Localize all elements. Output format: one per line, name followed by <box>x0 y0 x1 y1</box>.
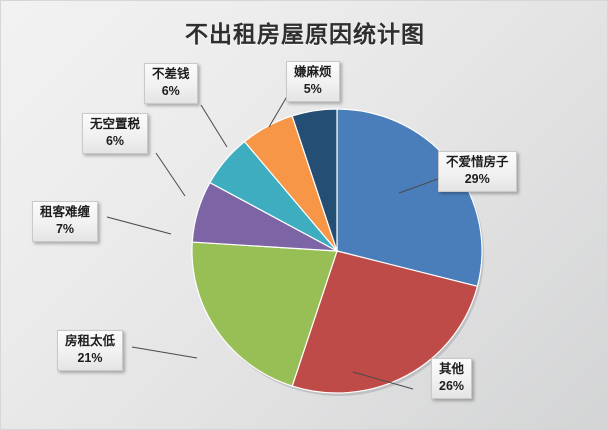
callout-category-label: 不爱惜房子 <box>446 155 509 170</box>
callout-percent-label: 6% <box>90 134 140 149</box>
callout-category-label: 无空置税 <box>90 117 140 132</box>
callout-category-label: 租客难缠 <box>40 205 90 220</box>
callout-zukenanchan[interactable]: 租客难缠 7% <box>32 201 98 242</box>
callout-buchaqian[interactable]: 不差钱 6% <box>144 63 198 104</box>
callout-buaixifangzi[interactable]: 不爱惜房子 29% <box>438 151 517 192</box>
callout-category-label: 嫌麻烦 <box>294 65 332 80</box>
callout-qita[interactable]: 其他 26% <box>431 358 472 399</box>
callout-percent-label: 7% <box>40 222 90 237</box>
callout-percent-label: 5% <box>294 82 332 97</box>
callout-category-label: 不差钱 <box>152 67 190 82</box>
callout-xianmafan[interactable]: 嫌麻烦 5% <box>286 61 340 102</box>
callout-percent-label: 26% <box>439 379 464 394</box>
callout-percent-label: 21% <box>65 351 115 366</box>
pie-chart-canvas: 不出租房屋原因统计图 嫌麻烦 5% 不爱惜房子 29% 其他 26% 房租太低 … <box>0 0 608 430</box>
callout-fangzutaidi[interactable]: 房租太低 21% <box>57 330 123 371</box>
callout-wukongzhishui[interactable]: 无空置税 6% <box>82 113 148 154</box>
callout-category-label: 房租太低 <box>65 334 115 349</box>
callout-percent-label: 29% <box>446 172 509 187</box>
callout-category-label: 其他 <box>439 362 464 377</box>
callout-percent-label: 6% <box>152 84 190 99</box>
